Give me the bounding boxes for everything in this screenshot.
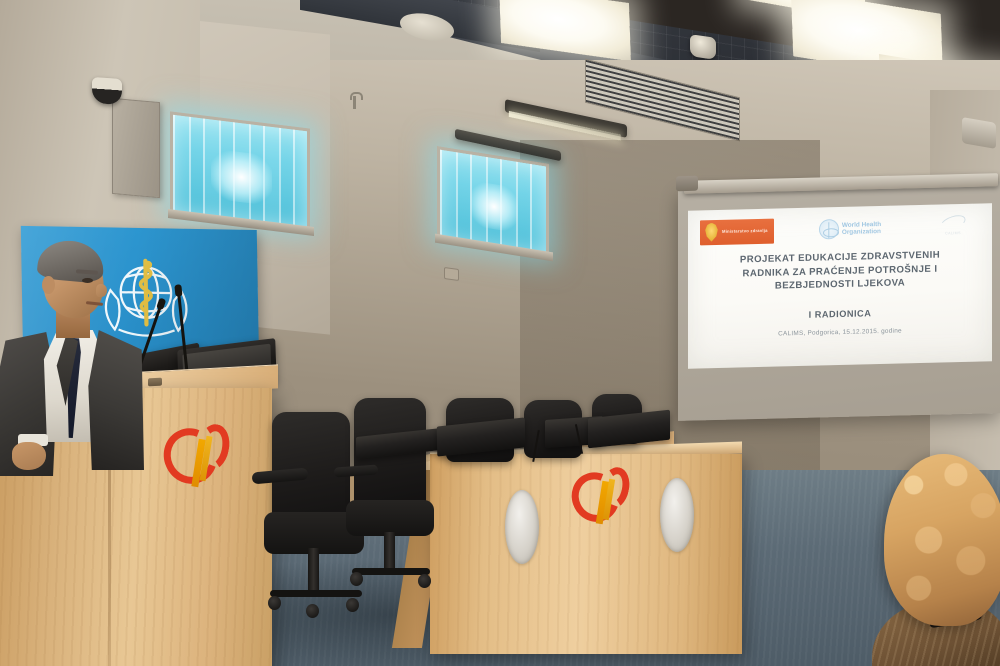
who-logo: World Health Organization <box>819 218 881 240</box>
montenegro-coat-of-arms-icon <box>704 222 719 241</box>
nose <box>96 284 107 297</box>
chair-caster <box>268 596 281 610</box>
projection-screen: Ministarstvo zdravlja World Health Organ… <box>678 185 1000 417</box>
slide-footer: CALIMS, Podgorica, 15.12.2015. godine <box>698 325 982 339</box>
window-glow <box>211 148 273 205</box>
wall-mounted-speaker <box>112 98 160 198</box>
chair-caster <box>306 604 319 618</box>
ear <box>42 276 55 294</box>
slide-logo-row: Ministarstvo zdravlja World Health Organ… <box>698 211 982 248</box>
projected-slide: Ministarstvo zdravlja World Health Organ… <box>688 203 992 368</box>
calims-swoosh-logo <box>160 422 232 500</box>
calims-logo-text: CALIMS <box>926 231 980 237</box>
window-glow <box>470 180 519 233</box>
calims-logo: CALIMS <box>926 216 980 237</box>
eye <box>82 278 93 283</box>
who-logo-text: World Health Organization <box>842 221 881 236</box>
table-speaker-grille <box>505 490 539 564</box>
screen-roller-cap <box>676 176 698 192</box>
hand <box>12 442 46 470</box>
slide-title: PROJEKAT EDUKACIJE ZDRAVSTVENIH RADNIKA … <box>698 248 982 296</box>
chair-caster <box>346 598 359 612</box>
chair-caster <box>350 572 363 586</box>
table-speaker-grille <box>660 478 694 552</box>
swoosh-icon <box>160 422 232 500</box>
calims-swoosh-logo <box>568 466 632 536</box>
ministry-of-health-logo: Ministarstvo zdravlja <box>700 218 774 245</box>
curly-hair <box>884 454 1000 626</box>
chair-base <box>352 568 430 575</box>
smoke-detector-icon <box>690 34 716 60</box>
presenter <box>8 246 143 476</box>
audience-member <box>876 444 1000 666</box>
chair-caster <box>418 574 431 588</box>
ministry-logo-text: Ministarstvo zdravlja <box>722 228 768 234</box>
podium-latch <box>148 378 162 387</box>
chair-base <box>270 590 362 597</box>
wall-outlet <box>444 267 459 281</box>
chair-post <box>384 532 395 572</box>
slide-subtitle: I RADIONICA <box>698 305 982 322</box>
chair-seat <box>346 500 434 536</box>
conference-room-photo: Ministarstvo zdravlja World Health Organ… <box>0 0 1000 666</box>
swoosh-icon <box>568 466 632 536</box>
who-logo-line2: Organization <box>842 228 881 236</box>
chair-post <box>308 548 319 594</box>
who-emblem-icon <box>819 219 839 239</box>
wall-hook <box>353 96 356 109</box>
